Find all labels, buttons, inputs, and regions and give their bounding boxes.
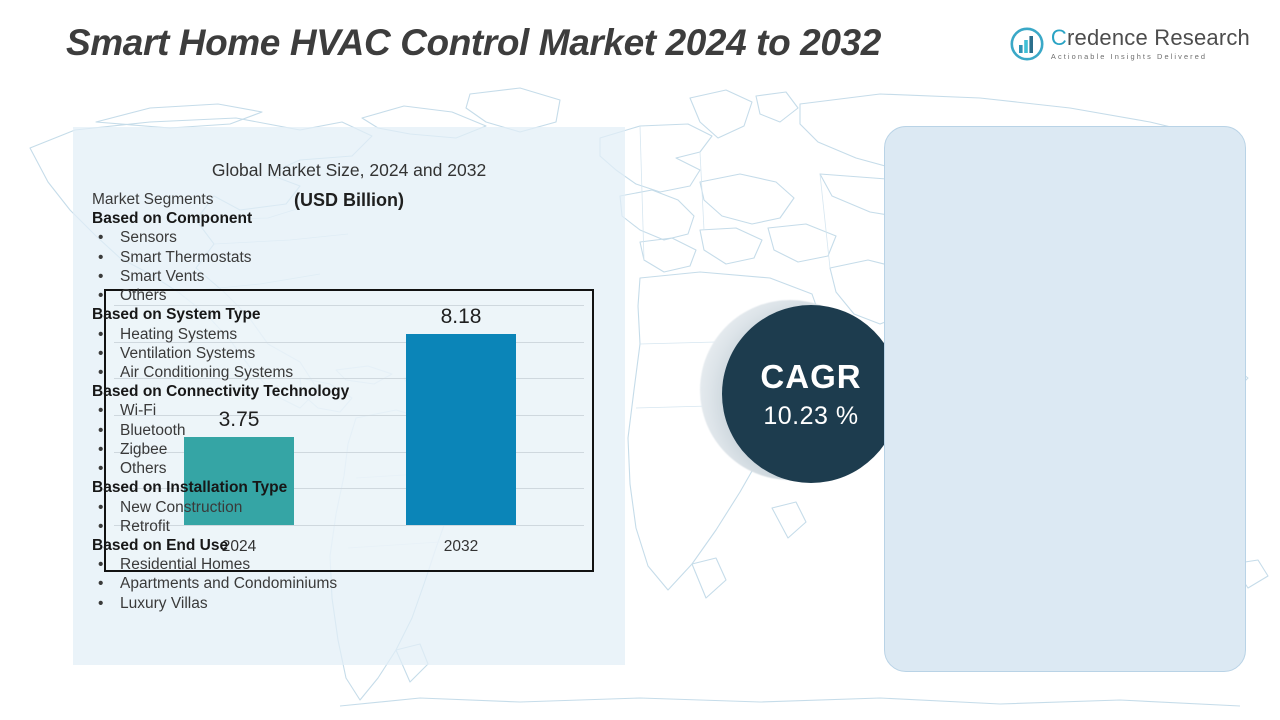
segment-item-label: Others	[120, 459, 167, 478]
segment-list-item: •Ventilation Systems	[92, 344, 492, 363]
brand-name-accent: C	[1051, 25, 1067, 50]
market-segments-list: Market Segments Based on Component•Senso…	[92, 190, 492, 613]
segment-item-label: Apartments and Condominiums	[120, 574, 337, 593]
segment-item-label: Wi-Fi	[120, 401, 156, 420]
segment-list-item: •Wi-Fi	[92, 401, 492, 420]
segment-group-heading: Based on Component	[92, 209, 492, 228]
brand-logo[interactable]: Credence Research Actionable Insights De…	[1010, 27, 1250, 61]
cagr-value: 10.23 %	[763, 404, 858, 429]
segment-list-item: •Retrofit	[92, 517, 492, 536]
brand-name-rest: redence Research	[1067, 25, 1250, 50]
segment-group-heading: Based on Installation Type	[92, 478, 492, 497]
bullet-icon: •	[92, 555, 120, 574]
bullet-icon: •	[92, 440, 120, 459]
segment-list-item: •Bluetooth	[92, 421, 492, 440]
cagr-badge: CAGR 10.23 %	[700, 300, 900, 485]
bullet-icon: •	[92, 401, 120, 420]
segment-list-item: •Smart Vents	[92, 267, 492, 286]
market-segments-heading: Market Segments	[92, 190, 492, 209]
header: Smart Home HVAC Control Market 2024 to 2…	[0, 0, 1280, 80]
segment-item-label: Heating Systems	[120, 325, 237, 344]
segment-list-item: •Apartments and Condominiums	[92, 574, 492, 593]
page-title: Smart Home HVAC Control Market 2024 to 2…	[66, 22, 881, 64]
segment-item-label: Smart Vents	[120, 267, 204, 286]
segment-list-item: •Smart Thermostats	[92, 248, 492, 267]
brand-logo-text: Credence Research Actionable Insights De…	[1051, 27, 1250, 60]
bullet-icon: •	[92, 228, 120, 247]
segment-list-item: •Air Conditioning Systems	[92, 363, 492, 382]
segment-list-item: •Heating Systems	[92, 325, 492, 344]
segment-item-label: Zigbee	[120, 440, 167, 459]
bullet-icon: •	[92, 344, 120, 363]
segment-item-label: Air Conditioning Systems	[120, 363, 293, 382]
segment-group-heading: Based on Connectivity Technology	[92, 382, 492, 401]
bullet-icon: •	[92, 286, 120, 305]
brand-tagline: Actionable Insights Delivered	[1051, 53, 1250, 60]
segment-item-label: Luxury Villas	[120, 594, 208, 613]
chart-title: Global Market Size, 2024 and 2032	[73, 160, 625, 181]
bullet-icon: •	[92, 267, 120, 286]
segment-item-label: Sensors	[120, 228, 177, 247]
bullet-icon: •	[92, 363, 120, 382]
segment-list-item: •New Construction	[92, 498, 492, 517]
segment-list-item: •Luxury Villas	[92, 594, 492, 613]
segment-item-label: Smart Thermostats	[120, 248, 252, 267]
bullet-icon: •	[92, 574, 120, 593]
bar-chart-circle-icon	[1010, 27, 1044, 61]
segment-list-item: •Others	[92, 286, 492, 305]
infographic-canvas: Smart Home HVAC Control Market 2024 to 2…	[0, 0, 1280, 720]
bullet-icon: •	[92, 248, 120, 267]
bullet-icon: •	[92, 325, 120, 344]
bullet-icon: •	[92, 421, 120, 440]
cagr-circle: CAGR 10.23 %	[722, 305, 900, 483]
segment-list-item: •Zigbee	[92, 440, 492, 459]
market-segments-panel	[884, 126, 1246, 672]
segment-group-heading: Based on End Use	[92, 536, 492, 555]
segment-list-item: •Sensors	[92, 228, 492, 247]
brand-name: Credence Research	[1051, 27, 1250, 49]
bullet-icon: •	[92, 498, 120, 517]
bullet-icon: •	[92, 517, 120, 536]
segment-item-label: Retrofit	[120, 517, 170, 536]
segment-list-item: •Others	[92, 459, 492, 478]
segment-group-heading: Based on System Type	[92, 305, 492, 324]
bullet-icon: •	[92, 459, 120, 478]
cagr-label: CAGR	[760, 360, 861, 393]
segment-item-label: Residential Homes	[120, 555, 250, 574]
segment-item-label: Bluetooth	[120, 421, 186, 440]
segment-item-label: Others	[120, 286, 167, 305]
segment-list-item: •Residential Homes	[92, 555, 492, 574]
segment-item-label: Ventilation Systems	[120, 344, 255, 363]
segment-item-label: New Construction	[120, 498, 242, 517]
bullet-icon: •	[92, 594, 120, 613]
